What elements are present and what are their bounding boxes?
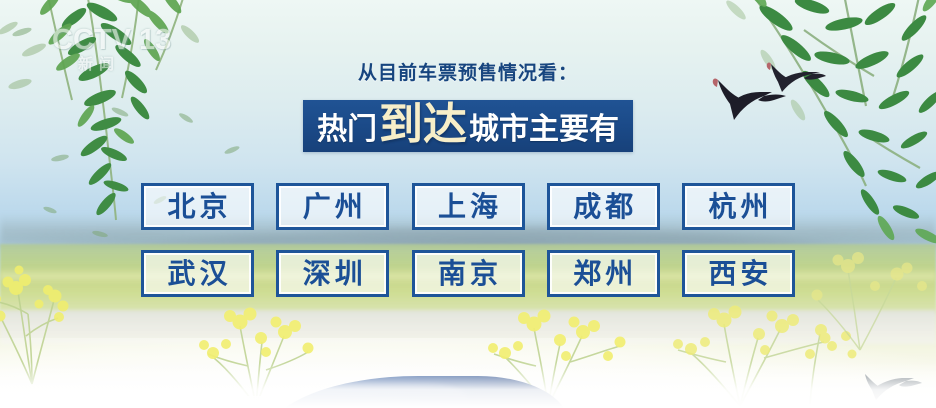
city-label: 杭州 [704,193,772,221]
city-box-xian[interactable]: 西安 [682,250,795,297]
city-label: 广州 [299,193,367,221]
flower-icon-left-edge [0,196,102,386]
city-box-wuhan[interactable]: 武汉 [141,250,254,297]
city-box-nanjing[interactable]: 南京 [412,250,525,297]
city-box-shanghai[interactable]: 上海 [412,183,525,230]
headline-container: 热门 到达 城市主要有 [0,100,936,152]
city-box-hangzhou[interactable]: 杭州 [682,183,795,230]
city-box-guangzhou[interactable]: 广州 [276,183,389,230]
city-label: 郑州 [569,260,637,288]
kicker-text: 从目前车票预售情况看： [0,58,936,85]
city-label: 南京 [434,260,502,288]
headline-banner: 热门 到达 城市主要有 [303,100,633,152]
city-label: 武汉 [163,260,231,288]
city-label: 西安 [704,260,772,288]
cctv-logo-text: CCTV 13 [52,26,170,55]
city-label: 上海 [434,193,502,221]
city-box-chengdu[interactable]: 成都 [547,183,660,230]
city-grid: 北京 广州 上海 成都 杭州 武汉 深圳 南京 [141,183,795,297]
broadcast-graphic-stage: CCTV 13 新闻 从目前车票预售情况看： 热门 到达 城市主要有 [0,0,936,408]
city-label: 成都 [569,193,637,221]
headline-highlight: 到达 [379,103,467,147]
city-box-beijing[interactable]: 北京 [141,183,254,230]
city-box-shenzhen[interactable]: 深圳 [276,250,389,297]
bottom-fade [0,362,936,408]
city-box-zhengzhou[interactable]: 郑州 [547,250,660,297]
city-row-1: 北京 广州 上海 成都 杭州 [141,183,795,230]
city-label: 北京 [163,193,231,221]
flower-icon-right-mid [790,222,936,352]
headline-part-1: 热门 [317,115,377,145]
headline-part-3: 城市主要有 [469,115,619,145]
city-label: 深圳 [299,260,367,288]
city-row-2: 武汉 深圳 南京 郑州 西安 [141,250,795,297]
